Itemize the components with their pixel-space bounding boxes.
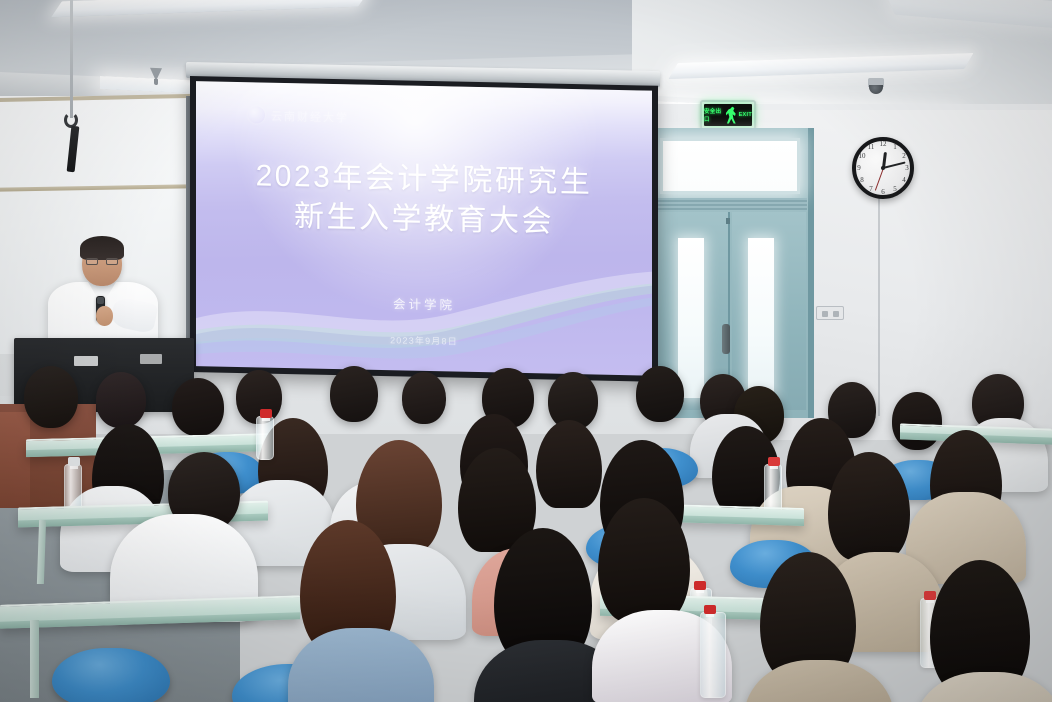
hanging-cord bbox=[70, 0, 73, 118]
audience-head bbox=[402, 372, 446, 424]
door-louvre bbox=[655, 198, 807, 210]
clock-numeral: 10 bbox=[857, 152, 867, 160]
wall-seam bbox=[878, 196, 880, 416]
clock-center-pin bbox=[881, 166, 885, 170]
clock-numeral: 1 bbox=[890, 143, 900, 151]
wall-outlet bbox=[816, 306, 844, 320]
audience-head bbox=[172, 378, 224, 436]
logo-mark-icon bbox=[248, 106, 265, 123]
projected-slide: 云南财经大学 2023年会计学院研究生 新生入学教育大会 会计学院 2023年9… bbox=[196, 81, 652, 376]
desk-leg bbox=[30, 620, 39, 698]
student-desk bbox=[664, 504, 804, 526]
door-hinge bbox=[726, 218, 730, 224]
exit-sign-face: 安全出口 EXIT bbox=[704, 104, 752, 126]
clock-numeral: 2 bbox=[899, 152, 909, 160]
clock-numeral: 12 bbox=[878, 140, 888, 148]
emergency-exit-sign: 安全出口 EXIT bbox=[700, 100, 756, 130]
audience-head bbox=[24, 366, 78, 428]
clock-numeral: 5 bbox=[890, 185, 900, 193]
audience-torso bbox=[744, 660, 894, 702]
clock-numeral: 4 bbox=[899, 176, 909, 184]
speaker-glasses-icon bbox=[86, 258, 118, 265]
audience-head bbox=[636, 366, 684, 422]
speaker-hair bbox=[80, 236, 124, 260]
slide-university-logo: 云南财经大学 bbox=[248, 106, 349, 125]
clock-numeral: 9 bbox=[854, 164, 864, 172]
door-glass-panel bbox=[748, 238, 774, 398]
clock-numeral: 8 bbox=[857, 176, 867, 184]
clock-numeral: 6 bbox=[878, 188, 888, 196]
lecture-hall-photo: 安全出口 EXIT 12 1 2 3 4 5 6 7 8 9 10 11 bbox=[0, 0, 1052, 702]
running-person-icon bbox=[726, 107, 737, 124]
wall-clock: 12 1 2 3 4 5 6 7 8 9 10 11 bbox=[852, 137, 914, 199]
dome-security-camera-icon bbox=[868, 78, 884, 87]
door-handle[interactable] bbox=[722, 324, 730, 354]
exit-sign-text-cn: 安全出口 bbox=[704, 107, 724, 123]
slide-university-name: 云南财经大学 bbox=[271, 107, 349, 125]
exit-sign-text-en: EXIT bbox=[739, 112, 752, 118]
projector-screen-frame: 云南财经大学 2023年会计学院研究生 新生入学教育大会 会计学院 2023年9… bbox=[190, 76, 658, 382]
water-bottle bbox=[256, 416, 274, 460]
slide-title: 2023年会计学院研究生 新生入学教育大会 bbox=[196, 155, 652, 244]
audience-head bbox=[892, 392, 942, 450]
clock-numeral: 11 bbox=[866, 143, 876, 151]
wood-wall-panel bbox=[0, 412, 30, 508]
transom-window bbox=[660, 138, 800, 194]
audience-torso bbox=[914, 672, 1052, 702]
classroom-chair bbox=[52, 648, 170, 702]
clock-numeral: 3 bbox=[902, 164, 912, 172]
door-glass-panel bbox=[678, 238, 704, 398]
water-bottle bbox=[700, 612, 726, 698]
audience-head bbox=[96, 372, 146, 428]
audience-head bbox=[330, 366, 378, 422]
speaker-hand bbox=[96, 306, 113, 326]
